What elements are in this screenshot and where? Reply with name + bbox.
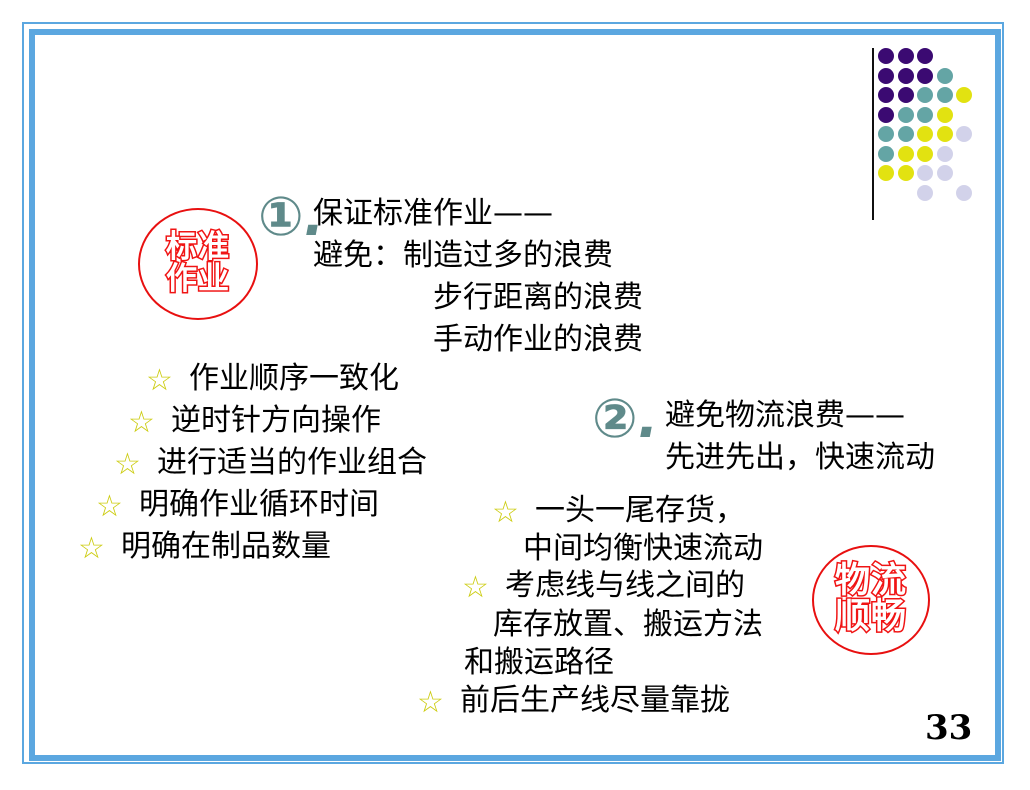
star-icon: ☆: [492, 498, 519, 528]
section-1-bullet-2: 逆时针方向操作: [171, 406, 381, 436]
grid-dot-purple: [898, 87, 914, 103]
grid-dot-yellow: [956, 87, 972, 103]
standard-work-seal: 标准 作业: [138, 208, 258, 320]
section-2-bullet-6: 前后生产线尽量靠拢: [460, 686, 730, 716]
slide-canvas: 标准 作业 ①. 保证标准作业—— 避免：制造过多的浪费 步行距离的浪费 手动作…: [0, 0, 1030, 790]
seal-line-2: 顺畅: [835, 600, 907, 636]
grid-dot-lavender: [956, 185, 972, 201]
grid-dot-purple: [878, 107, 894, 123]
section-2-heading: 避免物流浪费——: [665, 401, 905, 431]
section-1-line-2: 步行距离的浪费: [433, 283, 643, 313]
grid-dot-purple: [878, 48, 894, 64]
section-2-bullet-1: 一头一尾存货，: [535, 496, 745, 526]
seal-line-1: 物流: [835, 564, 907, 600]
grid-dot-teal: [878, 126, 894, 142]
grid-dot-yellow: [937, 107, 953, 123]
section-2-bullet-3: 考虑线与线之间的: [505, 571, 745, 601]
grid-dot-teal: [917, 107, 933, 123]
seal-line-1: 标准: [166, 232, 230, 264]
grid-dot-teal: [937, 68, 953, 84]
grid-dot-purple: [878, 87, 894, 103]
grid-dot-lavender: [917, 165, 933, 181]
section-2-bullet-5: 和搬运路径: [464, 648, 614, 678]
grid-dot-yellow: [898, 165, 914, 181]
star-icon: ☆: [114, 450, 141, 480]
grid-dot-lavender: [937, 165, 953, 181]
star-icon: ☆: [128, 408, 155, 438]
section-1-bullet-5: 明确在制品数量: [121, 532, 331, 562]
grid-dot-lavender: [956, 126, 972, 142]
grid-dot-yellow: [917, 126, 933, 142]
grid-dot-teal: [898, 107, 914, 123]
vertical-divider: [872, 48, 874, 220]
star-icon: ☆: [96, 492, 123, 522]
section-1-line-3: 手动作业的浪费: [433, 325, 643, 355]
grid-dot-purple: [917, 48, 933, 64]
section-1-bullet-3: 进行适当的作业组合: [157, 448, 427, 478]
grid-dot-purple: [898, 68, 914, 84]
grid-dot-yellow: [917, 146, 933, 162]
decorative-dot-grid: [878, 48, 998, 198]
grid-dot-teal: [898, 126, 914, 142]
section-1-bullet-4: 明确作业循环时间: [139, 490, 379, 520]
section-2-bullet-2: 中间均衡快速流动: [523, 534, 763, 564]
section-1-heading: 保证标准作业——: [313, 199, 553, 229]
grid-dot-yellow: [898, 146, 914, 162]
section-2-numeral: ②.: [592, 392, 658, 446]
star-icon: ☆: [417, 688, 444, 718]
smooth-logistics-seal: 物流 顺畅: [812, 545, 930, 655]
grid-dot-yellow: [878, 165, 894, 181]
grid-dot-purple: [898, 48, 914, 64]
grid-dot-purple: [917, 68, 933, 84]
grid-dot-teal: [917, 87, 933, 103]
section-2-line-1: 先进先出，快速流动: [665, 443, 935, 473]
seal-line-2: 作业: [166, 264, 230, 296]
star-icon: ☆: [462, 573, 489, 603]
grid-dot-yellow: [937, 126, 953, 142]
star-icon: ☆: [78, 534, 105, 564]
grid-dot-lavender: [937, 146, 953, 162]
grid-dot-lavender: [917, 185, 933, 201]
page-number: 33: [925, 708, 972, 748]
section-1-line-1: 避免：制造过多的浪费: [313, 241, 613, 271]
grid-dot-teal: [937, 87, 953, 103]
grid-dot-purple: [878, 68, 894, 84]
section-1-bullet-1: 作业顺序一致化: [189, 364, 399, 394]
section-2-bullet-4: 库存放置、搬运方法: [493, 610, 763, 640]
star-icon: ☆: [146, 366, 173, 396]
grid-dot-teal: [878, 146, 894, 162]
